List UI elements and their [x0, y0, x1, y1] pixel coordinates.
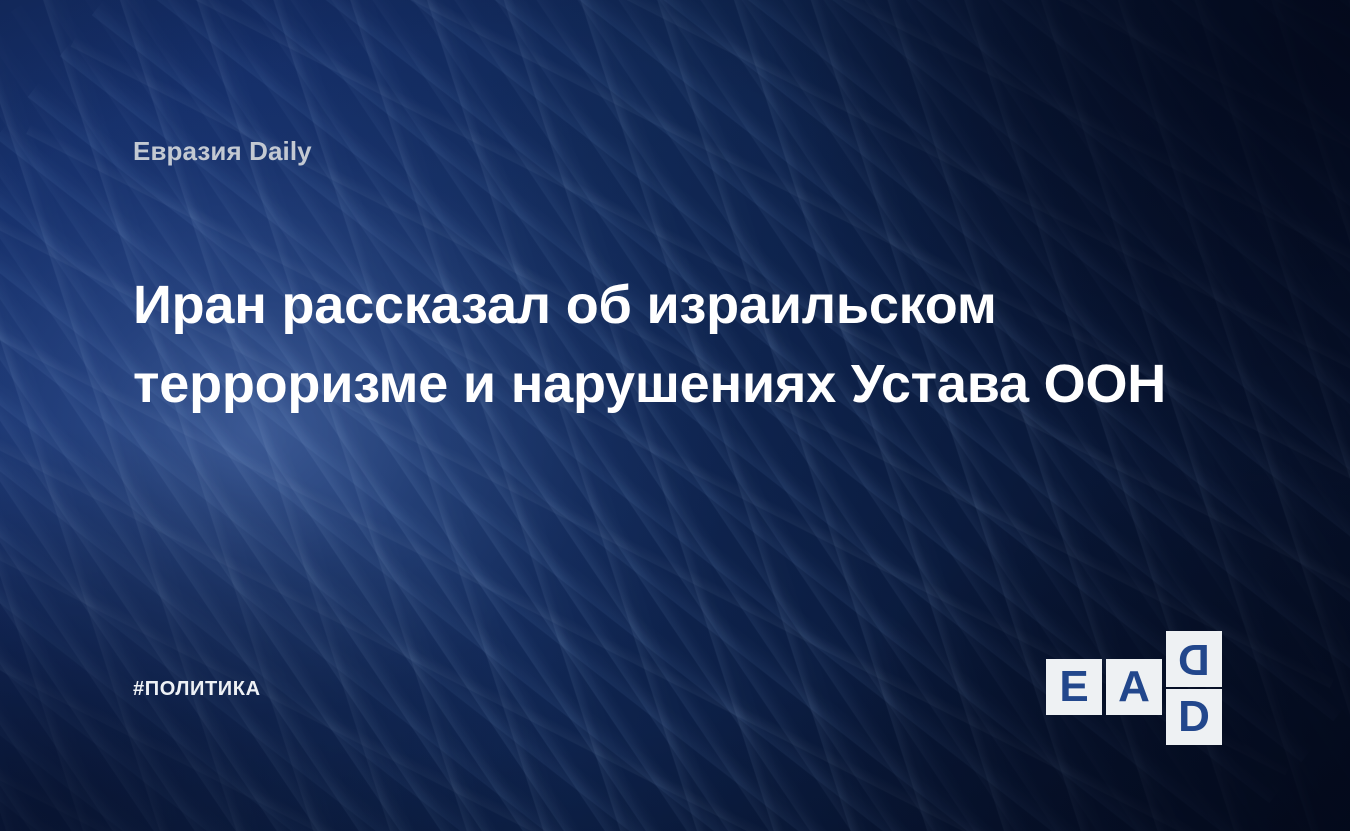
- logo-tile-d-rotated: D: [1166, 631, 1222, 687]
- logo-letter-d-rotated: D: [1178, 637, 1210, 681]
- news-share-card: Евразия Daily Иран рассказал об израильс…: [0, 0, 1350, 831]
- logo-tile-a: A: [1106, 659, 1162, 715]
- logo-tile-d: D: [1166, 689, 1222, 745]
- brand-name: Евразия Daily: [133, 136, 312, 167]
- logo-letter-d: D: [1178, 695, 1210, 739]
- card-content: Евразия Daily Иран рассказал об израильс…: [0, 0, 1350, 831]
- eadaily-logo[interactable]: E A D D: [1046, 631, 1222, 747]
- logo-letter-e: E: [1059, 665, 1088, 709]
- category-tag[interactable]: #ПОЛИТИКА: [133, 678, 261, 701]
- page-title: Иран рассказал об израильском терроризме…: [133, 266, 1193, 425]
- logo-tile-e: E: [1046, 659, 1102, 715]
- logo-letter-a: A: [1118, 665, 1150, 709]
